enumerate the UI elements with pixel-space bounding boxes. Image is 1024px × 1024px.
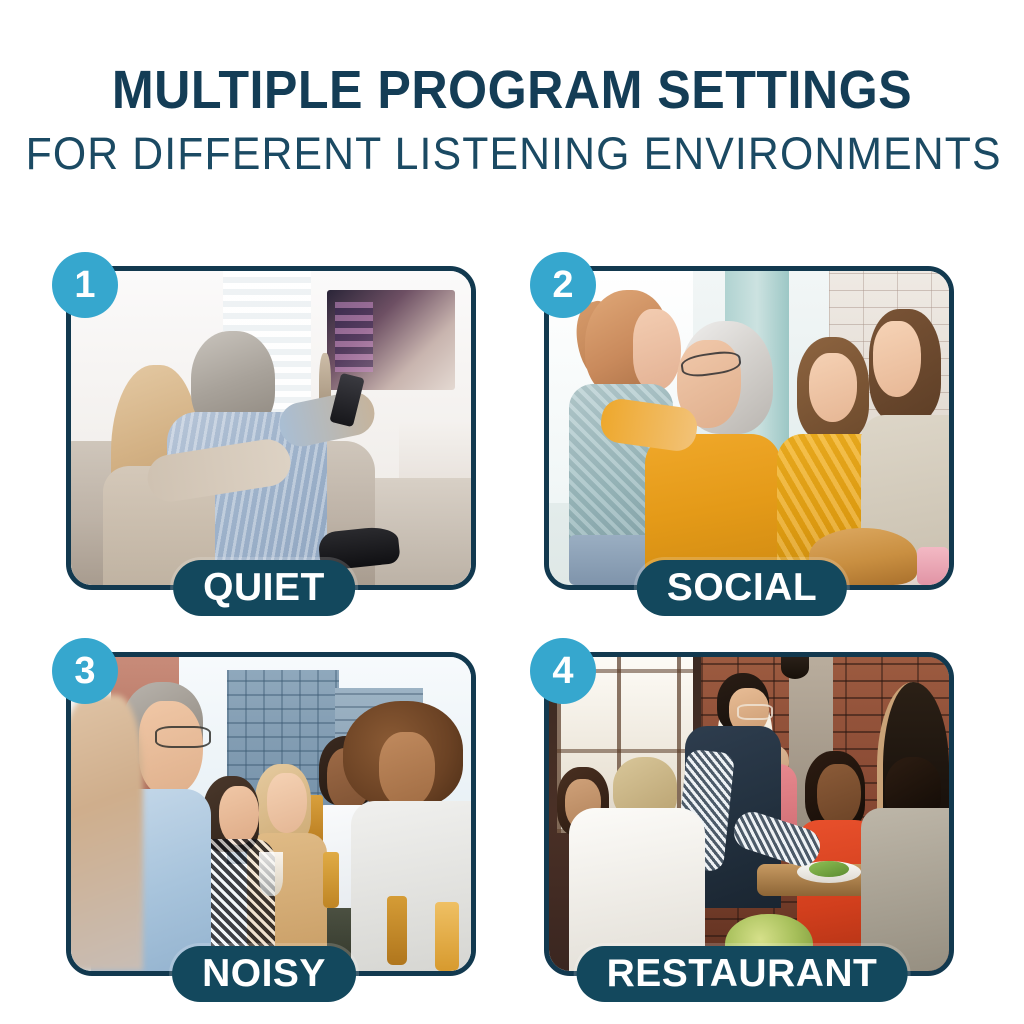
card-frame bbox=[544, 652, 954, 976]
card-label-restaurant: RESTAURANT bbox=[577, 946, 908, 1002]
photo-social-family-dinner bbox=[549, 271, 949, 585]
program-card-noisy[interactable]: 3 NOISY bbox=[52, 638, 476, 976]
card-label-noisy: NOISY bbox=[172, 946, 356, 1002]
card-frame bbox=[66, 266, 476, 590]
photo-quiet-living-room bbox=[71, 271, 471, 585]
step-number-badge: 1 bbox=[52, 252, 118, 318]
photo-restaurant-dining bbox=[549, 657, 949, 971]
heading-block: MULTIPLE PROGRAM SETTINGS FOR DIFFERENT … bbox=[0, 62, 1024, 177]
infographic-page: MULTIPLE PROGRAM SETTINGS FOR DIFFERENT … bbox=[0, 0, 1024, 1024]
page-subtitle: FOR DIFFERENT LISTENING ENVIRONMENTS bbox=[26, 130, 999, 177]
step-number-badge: 4 bbox=[530, 638, 596, 704]
step-number-badge: 3 bbox=[52, 638, 118, 704]
program-settings-grid: 1 QUIET bbox=[52, 252, 972, 964]
page-title: MULTIPLE PROGRAM SETTINGS bbox=[36, 62, 988, 118]
step-number-badge: 2 bbox=[530, 252, 596, 318]
program-card-quiet[interactable]: 1 QUIET bbox=[52, 252, 476, 590]
program-card-social[interactable]: 2 SOCIAL bbox=[530, 252, 954, 590]
card-label-quiet: QUIET bbox=[173, 560, 355, 616]
program-card-restaurant[interactable]: 4 RESTAURANT bbox=[530, 638, 954, 976]
photo-noisy-rooftop-party bbox=[71, 657, 471, 971]
card-frame bbox=[544, 266, 954, 590]
card-frame bbox=[66, 652, 476, 976]
card-label-social: SOCIAL bbox=[637, 560, 847, 616]
